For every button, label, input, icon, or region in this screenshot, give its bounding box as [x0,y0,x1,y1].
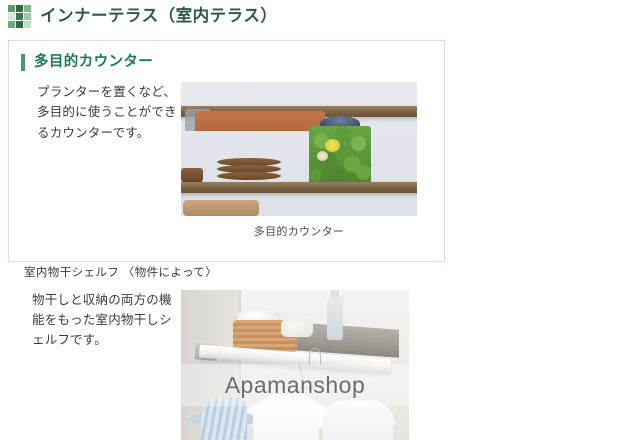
indoor-laundry-shelf-photo: Apamanshop [181,290,409,440]
photo-shelf-object-terracotta [195,111,325,131]
photo-bottom-object [183,200,259,216]
photo-yellow-flower [325,139,340,152]
section2-title: 室内物干シェルフ 〈物件によって〉 [0,268,640,280]
card-heading-label: 多目的カウンター [34,55,153,70]
indoor-laundry-shelf-section: 室内物干シェルフ 〈物件によって〉 物干しと収納の両方の機能をもった室内物干しシ… [0,268,640,440]
photo-wooden-plates [217,158,281,184]
card-body: プランターを置くなど、多目的に使うことができるカウンターです。 [9,71,444,239]
photo-folded-linen [281,319,313,337]
card-photo-column: 多目的カウンター [181,82,417,239]
watermark-label: Apamanshop [181,372,409,399]
grid-icon-cell [8,5,15,12]
grid-icon-cell [16,21,23,28]
grid-icon [8,5,31,28]
photo-caption: 多目的カウンター [181,216,417,239]
grid-icon-cell [24,13,31,20]
photo-upper-shelf [181,106,417,117]
photo-white-shirt [323,400,393,440]
multipurpose-counter-photo [181,82,417,216]
grid-icon-cell [8,21,15,28]
page-header: インナーテラス（室内テラス） [0,0,640,28]
photo-pale-flower [317,151,328,161]
grid-icon-cell [8,13,15,20]
grid-icon-cell [24,5,31,12]
grid-icon-cell [24,21,31,28]
accent-bar-icon [21,54,25,71]
page-title: インナーテラス（室内テラス） [40,8,277,25]
photo-plate [217,172,281,180]
photo-wall [181,82,417,216]
card-heading: 多目的カウンター [9,41,444,71]
section2-body: 物干しと収納の両方の機能をもった室内物干しシェルフです。 Apamanshop [0,280,640,440]
photo-lower-shelf [181,182,417,193]
photo-detergent-bottle [327,296,343,340]
multipurpose-counter-card: 多目的カウンター プランターを置くなど、多目的に使うことができるカウンターです。 [8,40,445,262]
section2-description: 物干しと収納の両方の機能をもった室内物干しシェルフです。 [0,290,181,351]
card-description: プランターを置くなど、多目的に使うことができるカウンターです。 [9,82,179,143]
grid-icon-cell [16,5,23,12]
grid-icon-cell [16,13,23,20]
